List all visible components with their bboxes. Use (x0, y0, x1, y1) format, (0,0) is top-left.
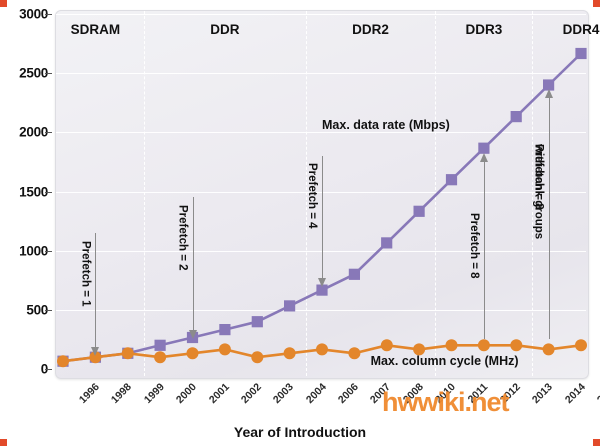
data-point-marker (381, 339, 393, 351)
data-point-marker (219, 324, 230, 335)
arrow-head-icon (545, 89, 553, 98)
y-tick-mark (45, 251, 52, 252)
x-tick-label: 2002 (239, 381, 264, 406)
y-tick-mark (45, 369, 52, 370)
data-point-marker (511, 111, 522, 122)
data-point-marker (349, 269, 360, 280)
dram-evolution-chart: 300025002000150010005000 SDRAMDDRDDR2DDR… (0, 0, 600, 446)
data-point-marker (446, 174, 457, 185)
y-tick-label: 0 (4, 362, 48, 377)
x-tick-label: 2013 (530, 381, 555, 406)
x-tick-label: 2008 (401, 381, 426, 406)
arrow-head-icon (91, 347, 99, 356)
data-point-marker (57, 355, 69, 367)
y-tick-label: 500 (4, 302, 48, 317)
data-point-marker (251, 351, 263, 363)
x-tick-label: 2012 (498, 381, 523, 406)
y-tick-label: 3000 (4, 7, 48, 22)
y-tick-mark (45, 73, 52, 74)
data-point-marker (575, 339, 587, 351)
annotation-line: Prefetch = 8 (468, 213, 480, 279)
y-tick-label: 1500 (4, 184, 48, 199)
y-tick-mark (45, 310, 52, 311)
annotation-line: Prefetch = 2 (176, 205, 188, 271)
y-tick-label: 2000 (4, 125, 48, 140)
x-tick-label: 2015 (595, 381, 600, 406)
data-point-marker (219, 343, 231, 355)
x-tick-label: 2007 (368, 381, 393, 406)
data-point-marker (348, 347, 360, 359)
y-tick-mark (45, 192, 52, 193)
data-point-marker (155, 340, 166, 351)
data-point-marker (284, 300, 295, 311)
x-tick-label: 2000 (174, 381, 199, 406)
x-tick-label: 1998 (109, 381, 134, 406)
y-tick-mark (45, 14, 52, 15)
arrow-head-icon (318, 278, 326, 287)
data-point-marker (381, 237, 392, 248)
data-point-marker (316, 343, 328, 355)
x-tick-label: 2006 (336, 381, 361, 406)
data-point-marker (122, 347, 134, 359)
data-point-marker (187, 347, 199, 359)
data-point-marker (575, 48, 586, 59)
x-tick-label: 2003 (271, 381, 296, 406)
data-point-marker (510, 339, 522, 351)
x-tick-label: 2014 (562, 381, 587, 406)
data-point-marker (154, 351, 166, 363)
annotation-arrow-prefetch8 (484, 161, 485, 340)
arrow-head-icon (189, 330, 197, 339)
series-plot-svg (55, 10, 587, 377)
plot-area: SDRAMDDRDDR2DDR3DDR4 Prefetch = 1Prefetc… (55, 10, 587, 377)
x-tick-label: 2011 (465, 381, 490, 406)
data-point-marker (543, 343, 555, 355)
data-point-marker (414, 206, 425, 217)
x-tick-label: 2004 (303, 381, 328, 406)
y-tick-label: 1000 (4, 243, 48, 258)
annotation-arrow-prefetch4 (322, 156, 323, 279)
x-tick-label: 1999 (142, 381, 167, 406)
x-tick-label: 1996 (77, 381, 102, 406)
annotation-line: Prefetch = 4 (306, 163, 318, 229)
annotation-arrow-prefetch2 (193, 197, 194, 331)
x-axis-title: Year of Introduction (0, 424, 600, 440)
annotation-line: Prefetch = 1 (79, 241, 91, 307)
annotation-arrow-pf8bg (549, 97, 550, 340)
data-point-marker (478, 339, 490, 351)
annotation-line: with bank groups (533, 144, 545, 239)
corner-marker-bottom-right (593, 439, 600, 446)
data-point-marker (252, 316, 263, 327)
series-label-column-cycle: Max. column cycle (MHz) (371, 354, 519, 368)
y-tick-label: 2500 (4, 66, 48, 81)
y-axis-tick-labels: 300025002000150010005000 (0, 0, 48, 446)
x-tick-label: 2010 (433, 381, 458, 406)
annotation-arrow-prefetch1 (95, 233, 96, 348)
x-tick-label: 2001 (206, 381, 231, 406)
data-point-marker (446, 339, 458, 351)
corner-marker-top-right (593, 0, 600, 7)
data-point-marker (284, 347, 296, 359)
series-label-data-rate: Max. data rate (Mbps) (322, 118, 450, 132)
arrow-head-icon (480, 153, 488, 162)
y-tick-mark (45, 132, 52, 133)
